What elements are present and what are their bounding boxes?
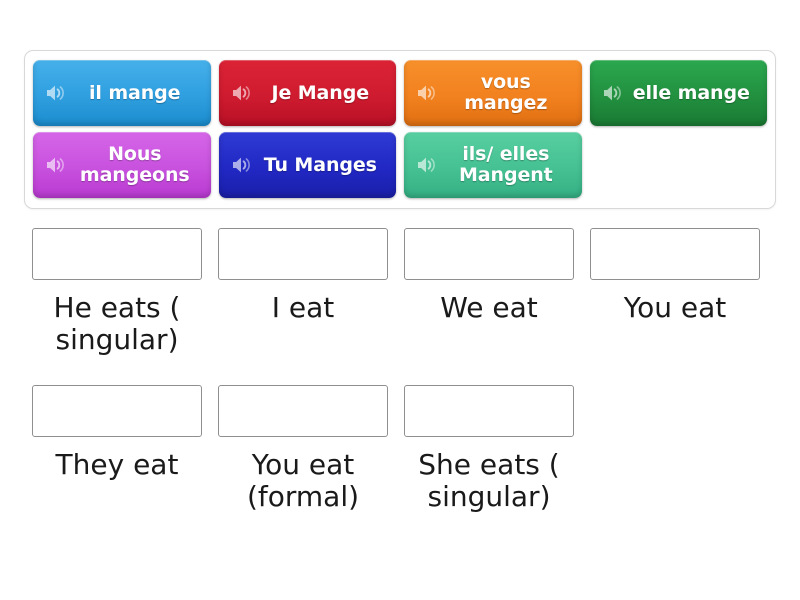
answer-label: You eat — [587, 292, 763, 324]
answer-cell-she-eats: She eats ( singular) — [396, 385, 582, 513]
speaker-icon[interactable] — [414, 152, 440, 178]
tile-label: il mange — [69, 83, 205, 104]
answer-label: She eats ( singular) — [401, 449, 577, 513]
answer-dropzones: He eats ( singular) I eat We eat You eat… — [24, 228, 776, 513]
draggable-tile-tu-manges[interactable]: Tu Manges — [219, 132, 397, 198]
tile-label: Je Mange — [255, 83, 391, 104]
speaker-icon[interactable] — [600, 80, 626, 106]
answer-label: They eat — [29, 449, 205, 481]
dropzone[interactable] — [404, 385, 574, 437]
answer-label: I eat — [215, 292, 391, 324]
speaker-icon[interactable] — [43, 152, 69, 178]
dropzone[interactable] — [218, 228, 388, 280]
answer-row: They eat You eat (formal) She eats ( sin… — [24, 385, 776, 513]
tile-row: il mange Je Mange vous mangez — [33, 60, 767, 126]
answer-cell-you-eat: You eat — [582, 228, 768, 324]
tile-label: elle mange — [626, 83, 762, 104]
tile-label: Tu Manges — [255, 155, 391, 176]
tile-label: Nous mangeons — [69, 144, 205, 186]
answer-row: He eats ( singular) I eat We eat You eat — [24, 228, 776, 356]
answer-cell-i-eat: I eat — [210, 228, 396, 324]
draggable-tile-elle-mange[interactable]: elle mange — [590, 60, 768, 126]
speaker-icon[interactable] — [414, 80, 440, 106]
speaker-icon[interactable] — [229, 80, 255, 106]
answer-label: You eat (formal) — [215, 449, 391, 513]
tile-row: Nous mangeons Tu Manges ils/ elles M — [33, 132, 767, 198]
speaker-icon[interactable] — [43, 80, 69, 106]
tile-label: vous mangez — [440, 72, 576, 114]
draggable-tile-nous-mangeons[interactable]: Nous mangeons — [33, 132, 211, 198]
answer-cell-they-eat: They eat — [24, 385, 210, 481]
answer-label: We eat — [401, 292, 577, 324]
draggable-tile-je-mange[interactable]: Je Mange — [219, 60, 397, 126]
draggable-tile-il-mange[interactable]: il mange — [33, 60, 211, 126]
draggable-tile-vous-mangez[interactable]: vous mangez — [404, 60, 582, 126]
draggable-tile-ils-elles-mangent[interactable]: ils/ elles Mangent — [404, 132, 582, 198]
dropzone[interactable] — [590, 228, 760, 280]
dropzone[interactable] — [218, 385, 388, 437]
dropzone[interactable] — [32, 228, 202, 280]
answer-label: He eats ( singular) — [29, 292, 205, 356]
speaker-icon[interactable] — [229, 152, 255, 178]
answer-cell-you-eat-formal: You eat (formal) — [210, 385, 396, 513]
answer-cell-he-eats: He eats ( singular) — [24, 228, 210, 356]
answer-cell-we-eat: We eat — [396, 228, 582, 324]
tile-slot-empty — [590, 132, 767, 198]
dropzone[interactable] — [32, 385, 202, 437]
dropzone[interactable] — [404, 228, 574, 280]
tile-label: ils/ elles Mangent — [440, 144, 576, 186]
draggable-tiles-tray: il mange Je Mange vous mangez — [24, 50, 776, 209]
